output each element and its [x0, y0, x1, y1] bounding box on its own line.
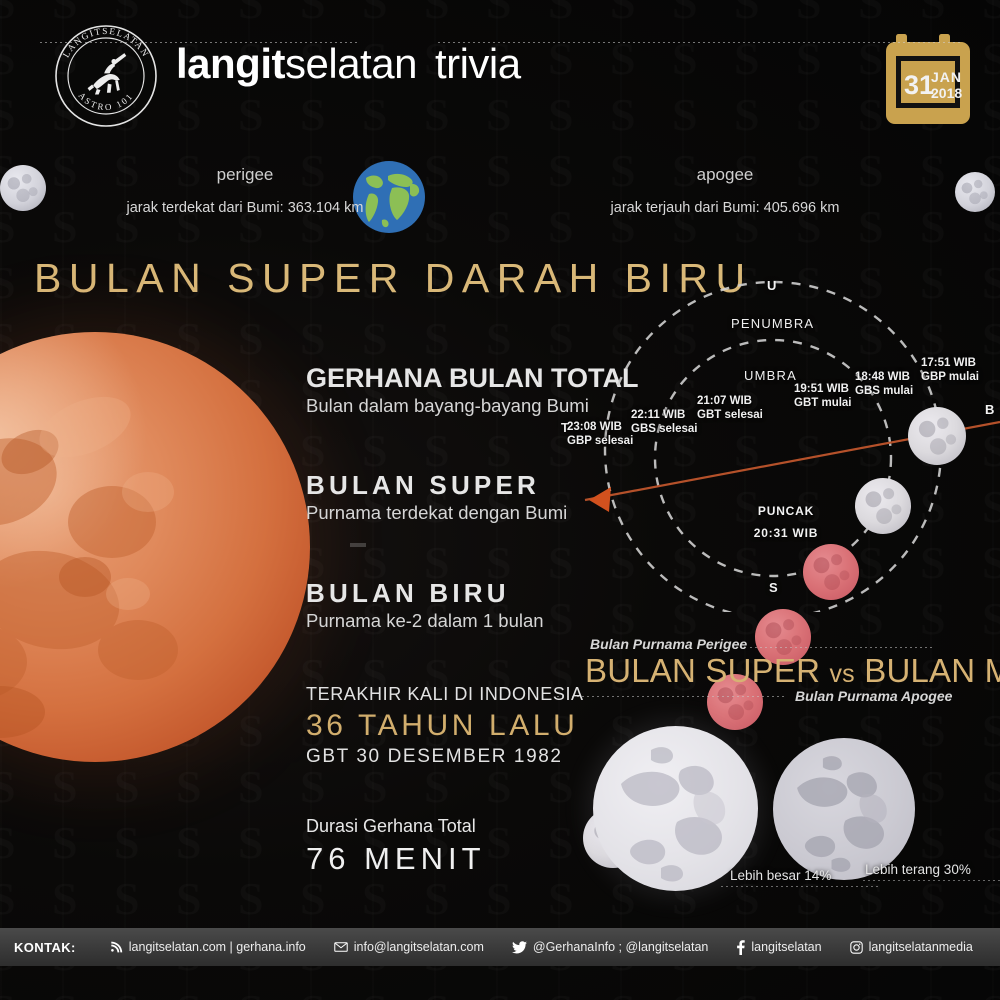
brand-title: langitselatantrivia [176, 40, 521, 88]
footer-item-text: info@langitselatan.com [354, 940, 484, 954]
stat-duration-label: Durasi Gerhana Total [306, 816, 486, 837]
rss-icon [110, 941, 123, 954]
brand-tail: trivia [435, 40, 521, 87]
apogee-distance: jarak terjauh dari Bumi: 405.696 km [550, 200, 900, 216]
stat-last-sub: GBT 30 DESEMBER 1982 [306, 746, 584, 768]
twitter-icon [512, 941, 527, 954]
footer-item-facebook[interactable]: langitselatan [722, 940, 835, 955]
footer-item-website[interactable]: langitselatan.com | gerhana.info [96, 940, 320, 954]
apogee-caption: Bulan Purnama Apogee [795, 688, 952, 704]
cardinal-west: B [985, 402, 994, 417]
footer-item-googleplus[interactable]: LangitselatanMedia [987, 940, 1000, 954]
caption-dots-top [750, 647, 935, 648]
penumbra-label: PENUMBRA [731, 316, 814, 331]
instagram-icon [850, 941, 863, 954]
footer-item-email[interactable]: info@langitselatan.com [320, 940, 498, 954]
phase-moon-gbt-mulai [803, 544, 859, 600]
phase-label-gbs-selesai: 22:11 WIB GBS selesai [631, 408, 697, 437]
super-vs-mini-title: BULAN SUPER vs BULAN MINI [585, 652, 985, 690]
stat-duration: Durasi Gerhana Total 76 MENIT [306, 816, 486, 877]
perigee-caption: Bulan Purnama Perigee [590, 636, 747, 652]
contact-footer: KONTAK: langitselatan.com | gerhana.info… [0, 928, 1000, 966]
stat-duration-value: 76 MENIT [306, 841, 486, 877]
footer-item-instagram[interactable]: langitselatanmedia [836, 940, 987, 954]
perigee-moon-icon [0, 165, 46, 211]
phase-label-gbs-mulai: 18:48 WIB GBS mulai [855, 370, 913, 399]
title-left: BULAN SUPER [585, 652, 820, 689]
note-bigger: Lebih besar 14% [730, 868, 831, 883]
stat-last-occurrence: TERAKHIR KALI DI INDONESIA 36 TAHUN LALU… [306, 684, 584, 768]
phase-label-gbt-selesai: 21:07 WIB GBT selesai [697, 394, 763, 423]
svg-text:ASTRO 101: ASTRO 101 [76, 90, 135, 112]
feature-divider [350, 543, 366, 547]
supermoon-comparison-disk [593, 726, 758, 891]
footer-item-text: langitselatan.com | gerhana.info [129, 940, 306, 954]
header: LANGITSELATAN ASTRO 101 langitselatantri… [0, 0, 1000, 148]
langitselatan-logo[interactable]: LANGITSELATAN ASTRO 101 [52, 22, 160, 130]
footer-item-text: @GerhanaInfo ; @langitselatan [533, 940, 708, 954]
feature-title: BULAN SUPER [306, 472, 567, 499]
phase-label-gbp-mulai: 17:51 WIB GBP mulai [921, 356, 979, 385]
peak-label: PUNCAK [731, 504, 841, 518]
perigee-distance: jarak terdekat dari Bumi: 363.104 km [70, 200, 420, 216]
minimoon-comparison-disk [773, 738, 915, 880]
orbit-line-left [40, 42, 360, 43]
note-brighter: Lebih terang 30% [865, 862, 971, 877]
brand-light: selatan [285, 40, 417, 87]
path-arrow-icon [589, 487, 611, 512]
phase-moon-gbp-mulai [908, 407, 966, 465]
phase-label-gbt-mulai: 19:51 WIB GBT mulai [794, 382, 852, 411]
brand-bold: langit [176, 40, 285, 87]
apogee-moon-icon [955, 172, 995, 212]
footer-label: KONTAK: [0, 940, 96, 955]
feature-bulan-biru: BULAN BIRU Purnama ke-2 dalam 1 bulan [306, 580, 544, 632]
eclipse-path-diagram: U S B T PENUMBRA UMBRA 23:08 WIB GBP sel… [545, 272, 1000, 612]
calendar-month: JAN [931, 69, 962, 85]
feature-title: BULAN BIRU [306, 580, 544, 607]
umbra-label: UMBRA [744, 368, 797, 383]
cardinal-south: S [769, 580, 778, 595]
calendar-day: 31 [904, 70, 934, 100]
caption-dots-bottom [557, 696, 787, 697]
footer-item-text: langitselatanmedia [869, 940, 973, 954]
phase-moon-gbs-mulai [855, 478, 911, 534]
feature-subtitle: Purnama ke-2 dalam 1 bulan [306, 610, 544, 632]
phase-label-gbp-selesai: 23:08 WIB GBP selesai [567, 420, 633, 449]
feature-bulan-super: BULAN SUPER Purnama terdekat dengan Bumi [306, 472, 567, 524]
cardinal-north: U [767, 278, 776, 293]
stat-last-value: 36 TAHUN LALU [306, 709, 584, 743]
peak-time: 20:31 WIB [731, 526, 841, 540]
facebook-icon [736, 940, 745, 955]
title-right: BULAN MINI [864, 652, 1000, 689]
calendar-date-icon: 31 JAN 2018 [884, 32, 972, 126]
apogee-label: apogee [600, 165, 850, 185]
perigee-apogee-strip [0, 148, 1000, 248]
perigee-label: perigee [120, 165, 370, 185]
bigger-note-dots [721, 886, 881, 887]
footer-item-text: langitselatan [751, 940, 821, 954]
calendar-year: 2018 [931, 85, 962, 101]
brighter-note-dots [863, 880, 1000, 881]
title-vs: vs [829, 660, 854, 688]
orbit-line-right [438, 42, 963, 43]
stat-last-label: TERAKHIR KALI DI INDONESIA [306, 684, 584, 705]
footer-item-twitter[interactable]: @GerhanaInfo ; @langitselatan [498, 940, 722, 954]
super-vs-mini-section: Bulan Purnama Perigee BULAN SUPER vs BUL… [545, 630, 1000, 900]
mail-icon [334, 940, 348, 954]
feature-subtitle: Purnama terdekat dengan Bumi [306, 502, 567, 524]
